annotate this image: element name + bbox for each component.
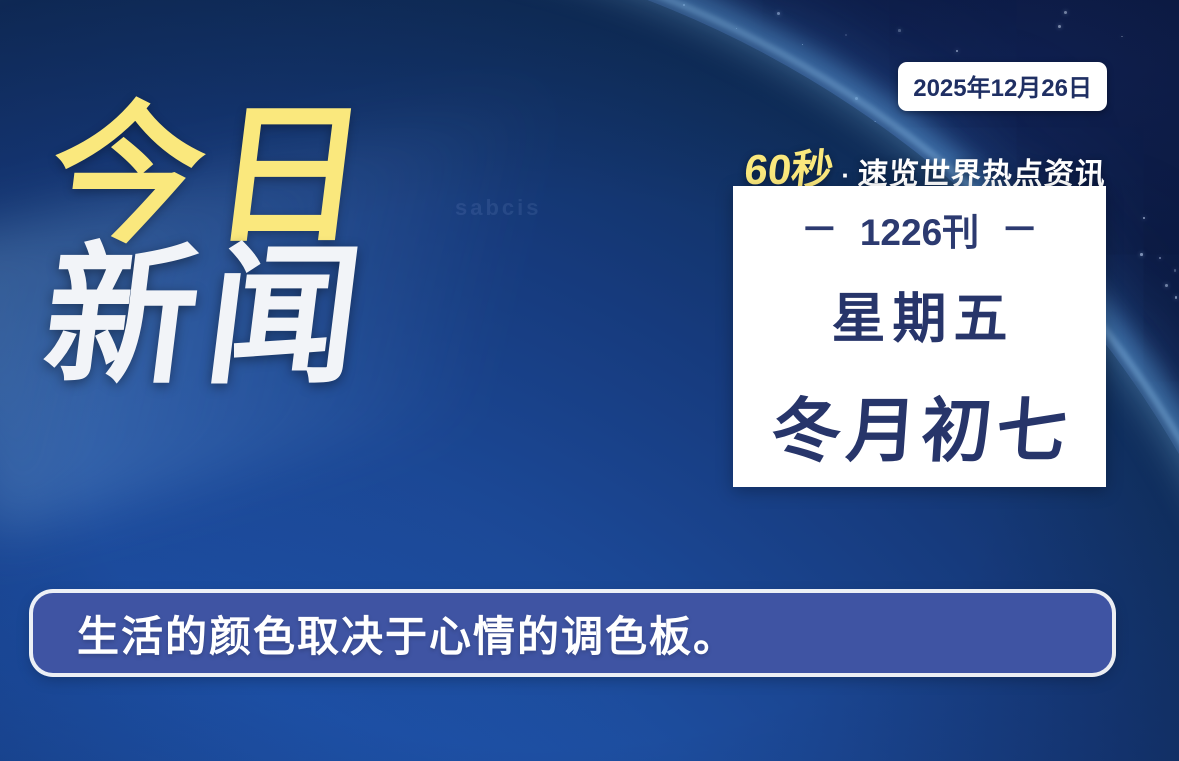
title-line-news: 新闻 [36, 239, 481, 394]
quote-text: 生活的颜色取决于心情的调色板。 [77, 603, 737, 664]
issue-dash-left: － [801, 211, 838, 248]
issue-number-row: － 1226刊 － [801, 202, 1038, 256]
news-poster: sabcis 今日 新闻 2025年12月26日 60秒 · 速览世界热点资讯 … [0, 0, 1179, 761]
issue-dash-right: － [1001, 211, 1038, 248]
quote-banner: 生活的颜色取决于心情的调色板。 [33, 593, 1112, 673]
date-info-card: － 1226刊 － 星期五 冬月初七 [733, 186, 1106, 487]
issue-number: 1226刊 [860, 202, 979, 256]
date-badge: 2025年12月26日 [898, 62, 1107, 111]
lunar-date-label: 冬月初七 [763, 375, 1075, 476]
poster-title: 今日 新闻 [52, 98, 472, 394]
weekday-label: 星期五 [825, 274, 1015, 353]
